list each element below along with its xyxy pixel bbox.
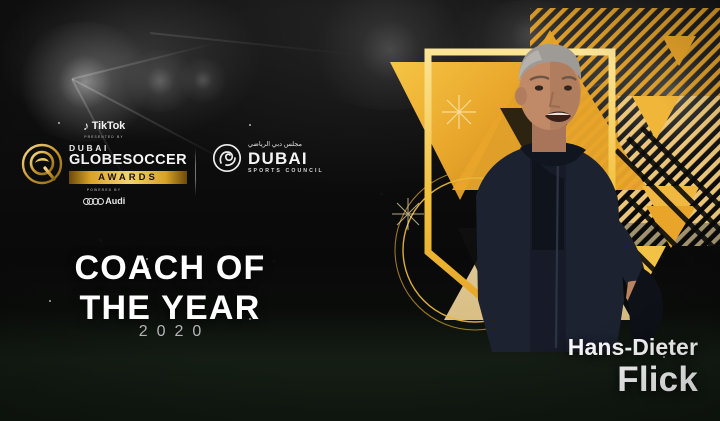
award-year: 2020 [0,323,340,341]
dsc-name-text: DUBAI [248,150,308,167]
sponsor-logo-block: ♪ TikTok PRESENTED BY [0,118,340,224]
logo-globesoccer-text: GLOBESOCCER [69,153,187,168]
audi-rings-icon [83,198,101,205]
winner-last-name: Flick [378,360,698,399]
globe-soccer-emblem-icon [21,143,63,185]
powered-by-label: POWERED BY [87,188,121,192]
dsc-subtitle-text: SPORTS COUNCIL [248,169,324,174]
dubai-sports-council-emblem-icon [212,143,242,173]
presented-by-label: PRESENTED BY [84,135,124,139]
dubai-sports-council-logo: مجلس دبي الرياضي DUBAI SPORTS COUNCIL [212,142,324,174]
award-title: COACH OF THE YEAR [0,248,340,328]
winner-name-block: Hans-Dieter Flick [378,335,698,399]
tiktok-label: TikTok [92,120,125,132]
audi-label: Audi [105,196,125,206]
logo-dubai-text: DUBAI [69,144,109,153]
award-title-line1: COACH OF [0,248,340,288]
globe-soccer-lockup: ♪ TikTok PRESENTED BY [24,118,184,224]
globe-soccer-wordmark: DUBAI GLOBESOCCER AWARDS [69,144,187,184]
floodlight-glow [175,58,231,102]
tiktok-note-icon: ♪ [83,120,89,132]
tiktok-logo: ♪ TikTok [83,120,125,132]
logo-awards-banner: AWARDS [69,171,187,185]
logo-divider [195,148,196,196]
globe-soccer-awards-logo: DUBAI GLOBESOCCER AWARDS [21,143,187,185]
dsc-arabic-text: مجلس دبي الرياضي [248,142,302,149]
audi-logo: Audi [83,196,125,206]
award-poster: ♪ TikTok PRESENTED BY [0,0,720,421]
dubai-sports-council-wordmark: مجلس دبي الرياضي DUBAI SPORTS COUNCIL [248,142,324,174]
winner-first-name: Hans-Dieter [378,335,698,360]
